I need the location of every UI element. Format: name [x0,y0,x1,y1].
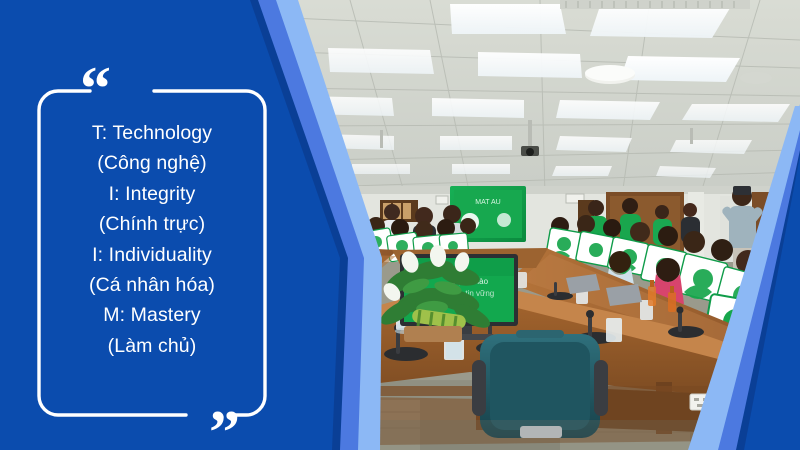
close-quote-icon: ” [209,402,240,450]
open-quote-icon: “ [80,58,111,120]
quote-line-7: M: Mastery [36,300,268,330]
slide-canvas: MAT AU [0,0,800,450]
quote-line-4: (Chính trực) [36,209,268,239]
quote-text-block: T: Technology (Công nghệ) I: Integrity (… [36,118,268,361]
quote-line-2: (Công nghệ) [36,148,268,178]
svg-text:MAT AU: MAT AU [475,199,500,206]
quote-line-3: I: Integrity [36,179,268,209]
quote-line-8: (Làm chủ) [36,331,268,361]
quote-card: “ T: Technology (Công nghệ) I: Integrity… [36,88,268,418]
quote-line-1: T: Technology [36,118,268,148]
quote-line-5: I: Individuality [36,240,268,270]
quote-line-6: (Cá nhân hóa) [36,270,268,300]
